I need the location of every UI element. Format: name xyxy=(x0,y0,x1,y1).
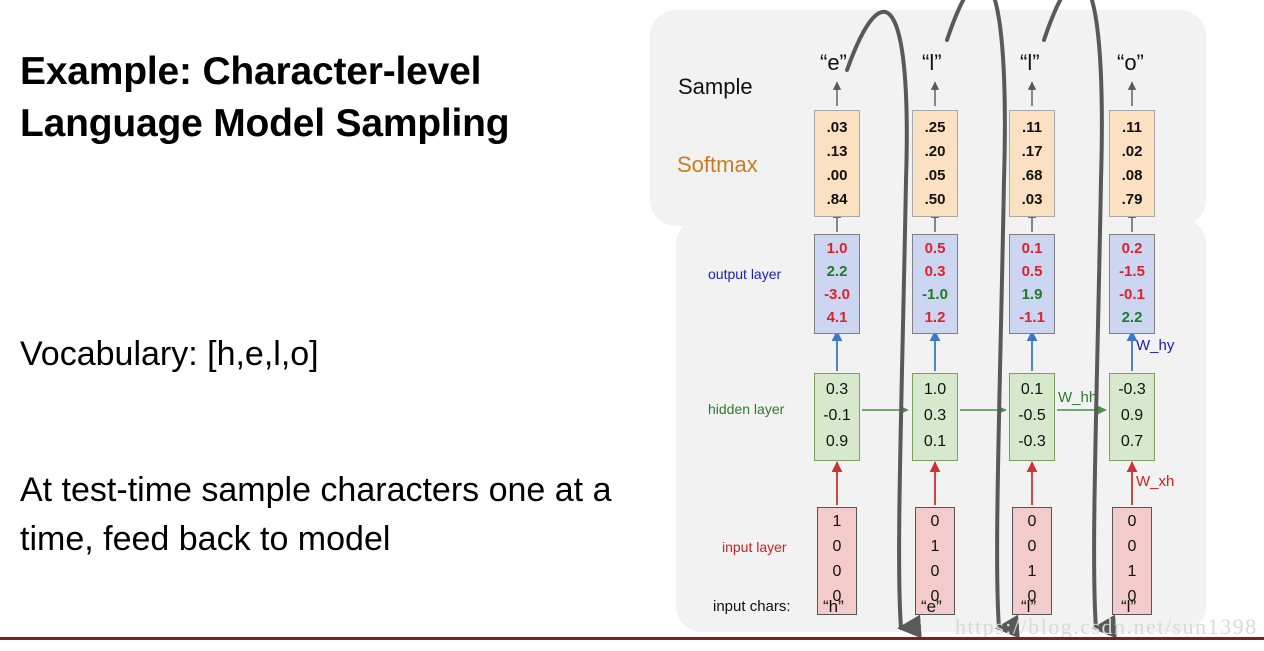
input-value: 1 xyxy=(1113,564,1151,580)
input-value: 0 xyxy=(1113,539,1151,555)
output-value: 0.3 xyxy=(913,264,957,279)
softmax-value: .11 xyxy=(1110,120,1154,135)
softmax-value: .08 xyxy=(1110,168,1154,183)
softmax-value: .68 xyxy=(1010,168,1054,183)
input-value: 0 xyxy=(1113,514,1151,530)
hidden-box-3: -0.3 0.9 0.7 xyxy=(1109,373,1155,461)
output-value: 0.5 xyxy=(913,241,957,256)
softmax-value: .84 xyxy=(815,192,859,207)
softmax-value: .50 xyxy=(913,192,957,207)
input-char-0: “h” xyxy=(823,597,844,617)
input-value: 0 xyxy=(1013,514,1051,530)
hidden-value: -0.3 xyxy=(1010,434,1054,450)
output-box-3: 0.2 -1.5 -0.1 2.2 xyxy=(1109,234,1155,334)
softmax-value: .25 xyxy=(913,120,957,135)
softmax-box-1: .25 .20 .05 .50 xyxy=(912,110,958,217)
output-value: 2.2 xyxy=(815,264,859,279)
hidden-value: 0.3 xyxy=(815,382,859,398)
output-box-2: 0.1 0.5 1.9 -1.1 xyxy=(1009,234,1055,334)
hidden-value: 0.1 xyxy=(913,434,957,450)
sample-char-1: “l” xyxy=(922,50,942,76)
softmax-value: .03 xyxy=(1010,192,1054,207)
vocabulary-text: Vocabulary: [h,e,l,o] xyxy=(20,330,640,379)
hidden-value: -0.1 xyxy=(815,408,859,424)
output-value: 1.0 xyxy=(815,241,859,256)
rnn-diagram: Sample Softmax output layer hidden layer… xyxy=(650,0,1264,651)
page-title: Example: Character-level Language Model … xyxy=(20,46,620,150)
hidden-value: -0.3 xyxy=(1110,382,1154,398)
hidden-value: 0.3 xyxy=(913,408,957,424)
sample-char-2: “l” xyxy=(1020,50,1040,76)
output-value: 2.2 xyxy=(1110,310,1154,325)
output-value: -0.1 xyxy=(1110,287,1154,302)
output-value: 1.9 xyxy=(1010,287,1054,302)
softmax-value: .13 xyxy=(815,144,859,159)
softmax-value: .00 xyxy=(815,168,859,183)
input-value: 0 xyxy=(818,539,856,555)
output-value: -3.0 xyxy=(815,287,859,302)
input-value: 0 xyxy=(1013,539,1051,555)
hidden-value: 1.0 xyxy=(913,382,957,398)
testtime-description: At test-time sample characters one at a … xyxy=(20,466,640,564)
input-value: 0 xyxy=(916,564,954,580)
input-value: 0 xyxy=(916,514,954,530)
softmax-box-2: .11 .17 .68 .03 xyxy=(1009,110,1055,217)
softmax-value: .05 xyxy=(913,168,957,183)
softmax-value: .17 xyxy=(1010,144,1054,159)
hidden-value: -0.5 xyxy=(1010,408,1054,424)
hidden-value: 0.9 xyxy=(1110,408,1154,424)
softmax-value: .02 xyxy=(1110,144,1154,159)
softmax-value: .03 xyxy=(815,120,859,135)
hidden-box-2: 0.1 -0.5 -0.3 xyxy=(1009,373,1055,461)
output-value: 4.1 xyxy=(815,310,859,325)
hidden-value: 0.9 xyxy=(815,434,859,450)
output-value: -1.5 xyxy=(1110,264,1154,279)
bottom-rule xyxy=(0,637,1264,640)
output-value: 0.2 xyxy=(1110,241,1154,256)
output-value: -1.1 xyxy=(1010,310,1054,325)
output-box-0: 1.0 2.2 -3.0 4.1 xyxy=(814,234,860,334)
output-box-1: 0.5 0.3 -1.0 1.2 xyxy=(912,234,958,334)
hidden-value: 0.1 xyxy=(1010,382,1054,398)
softmax-value: .79 xyxy=(1110,192,1154,207)
output-value: 0.1 xyxy=(1010,241,1054,256)
output-value: -1.0 xyxy=(913,287,957,302)
softmax-value: .20 xyxy=(913,144,957,159)
output-value: 1.2 xyxy=(913,310,957,325)
sample-char-3: “o” xyxy=(1117,50,1144,76)
input-value: 1 xyxy=(818,514,856,530)
softmax-value: .11 xyxy=(1010,120,1054,135)
hidden-box-1: 1.0 0.3 0.1 xyxy=(912,373,958,461)
hidden-value: 0.7 xyxy=(1110,434,1154,450)
softmax-box-3: .11 .02 .08 .79 xyxy=(1109,110,1155,217)
input-value: 0 xyxy=(818,564,856,580)
sample-char-0: “e” xyxy=(820,50,847,76)
output-value: 0.5 xyxy=(1010,264,1054,279)
input-value: 1 xyxy=(916,539,954,555)
input-value: 1 xyxy=(1013,564,1051,580)
softmax-box-0: .03 .13 .00 .84 xyxy=(814,110,860,217)
input-char-1: “e” xyxy=(921,597,942,617)
hidden-box-0: 0.3 -0.1 0.9 xyxy=(814,373,860,461)
text-pane: Example: Character-level Language Model … xyxy=(0,0,650,651)
